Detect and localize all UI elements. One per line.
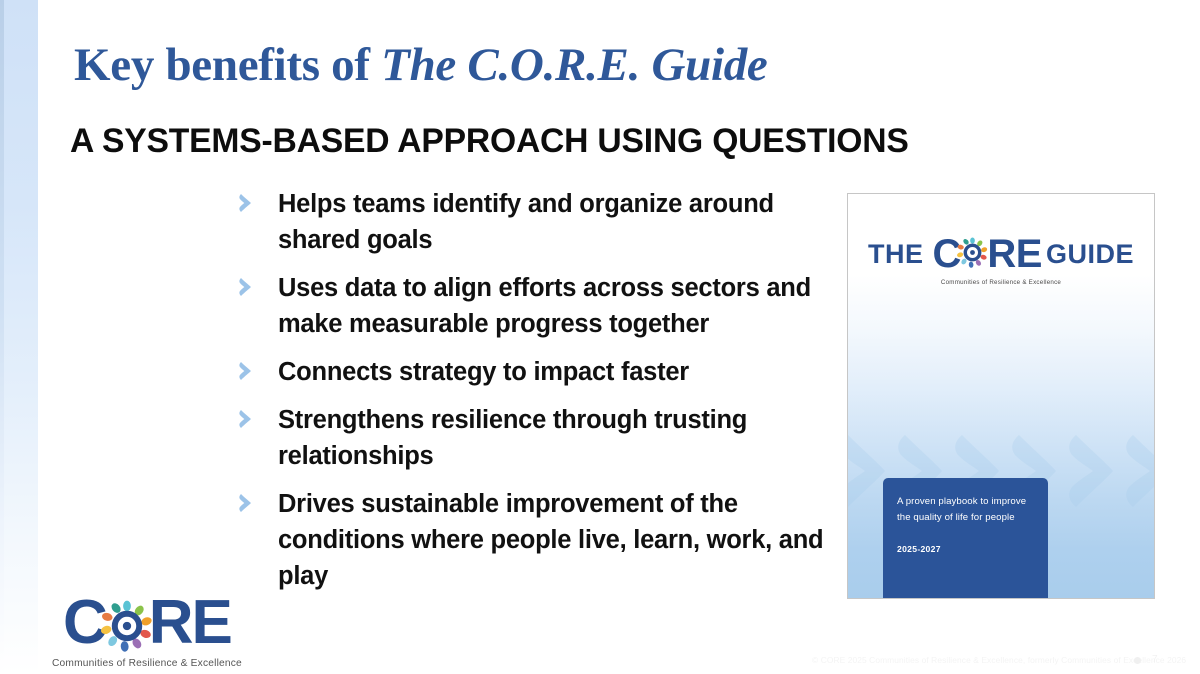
page-title-plain: Key benefits of [74, 39, 381, 91]
book-cover-image: THE C RE [847, 193, 1155, 599]
cover-logo-c: C [933, 234, 961, 274]
cover-years-label: 2025-2027 [897, 544, 941, 554]
list-item-label: Helps teams identify and organize around… [278, 190, 774, 254]
list-item: Strengthens resilience through trusting … [238, 402, 838, 474]
footer-credit-text: © CORE 2025 Communities of Resilience & … [812, 654, 1186, 666]
list-item: Uses data to align efforts across sector… [238, 270, 838, 342]
list-item-label: Strengthens resilience through trusting … [278, 406, 747, 470]
chevron-watermark-icon [1066, 432, 1118, 510]
brand-logo-wordmark: C RE [63, 592, 231, 654]
brand-logo: C RE Communities of Resilience & Excelle… [52, 592, 242, 671]
page-title: Key benefits of The C.O.R.E. Guide [74, 36, 767, 94]
footer-bullet-icon [1134, 657, 1141, 664]
chevron-right-icon [238, 188, 260, 218]
cover-logo-the: THE [868, 239, 924, 269]
list-item-label: Drives sustainable improvement of the co… [278, 490, 823, 590]
core-ring-icon [101, 600, 153, 652]
chevron-watermark-icon [1123, 432, 1155, 510]
list-item: Connects strategy to impact faster [238, 354, 838, 390]
page-subtitle: A SYSTEMS-BASED APPROACH USING QUESTIONS [70, 120, 909, 162]
brand-logo-c: C [63, 592, 106, 654]
cover-blurb-text: A proven playbook to improve the quality… [897, 494, 1034, 526]
cover-logo-guide: GUIDE [1046, 239, 1134, 269]
left-accent-strip-edge [0, 0, 4, 674]
list-item: Drives sustainable improvement of the co… [238, 486, 838, 594]
chevron-right-icon [238, 272, 260, 302]
list-item: Helps teams identify and organize around… [238, 186, 838, 258]
benefits-list: Helps teams identify and organize around… [238, 186, 838, 606]
page-title-italic: The C.O.R.E. Guide [381, 39, 767, 91]
chevron-right-icon [238, 356, 260, 386]
cover-blurb-box: A proven playbook to improve the quality… [883, 478, 1048, 598]
list-item-label: Connects strategy to impact faster [278, 358, 689, 386]
cover-logo-re: RE [987, 234, 1042, 274]
cover-logo-tagline: Communities of Resilience & Excellence [941, 278, 1061, 287]
cover-logo: THE C RE [848, 234, 1154, 287]
left-accent-strip [0, 0, 38, 674]
footer-page-number: 7 [1152, 653, 1158, 666]
core-ring-icon [957, 237, 988, 268]
brand-logo-re: RE [149, 592, 231, 654]
chevron-right-icon [238, 488, 260, 518]
cover-logo-wordmark: THE C RE [868, 234, 1134, 274]
brand-logo-tagline: Communities of Resilience & Excellence [52, 657, 242, 671]
list-item-label: Uses data to align efforts across sector… [278, 274, 811, 338]
chevron-right-icon [238, 404, 260, 434]
